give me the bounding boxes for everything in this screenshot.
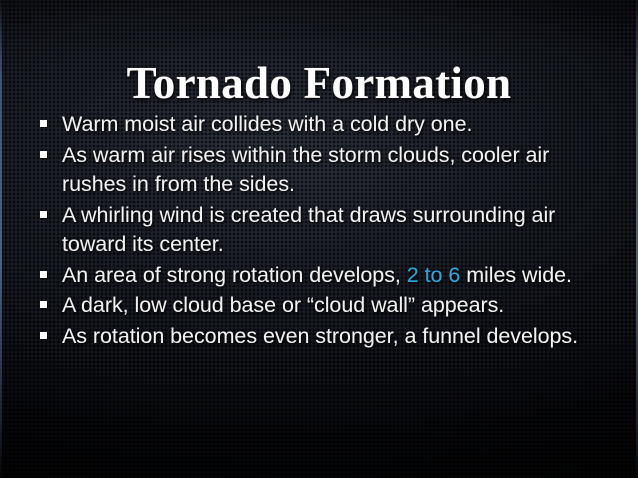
list-item-text: Warm moist air collides with a cold dry … xyxy=(62,112,472,136)
slide-content: Tornado Formation Warm moist air collide… xyxy=(0,0,638,478)
presentation-slide: Tornado Formation Warm moist air collide… xyxy=(0,0,638,478)
plain-text: An area of strong rotation develops, xyxy=(62,263,407,287)
square-bullet-icon xyxy=(40,151,47,158)
plain-text: A whirling wind is created that draws su… xyxy=(62,203,555,257)
square-bullet-icon xyxy=(40,332,47,339)
list-item: An area of strong rotation develops, 2 t… xyxy=(36,261,614,291)
bullet-list: Warm moist air collides with a cold dry … xyxy=(36,110,614,352)
list-item: As rotation becomes even stronger, a fun… xyxy=(36,322,614,352)
list-item: A whirling wind is created that draws su… xyxy=(36,201,614,260)
list-item-text: A whirling wind is created that draws su… xyxy=(62,203,555,257)
list-item-text: As warm air rises within the storm cloud… xyxy=(62,143,549,197)
plain-text: As rotation becomes even stronger, a fun… xyxy=(62,324,578,348)
square-bullet-icon xyxy=(40,120,47,127)
list-item: Warm moist air collides with a cold dry … xyxy=(36,110,614,140)
square-bullet-icon xyxy=(40,211,47,218)
slide-title: Tornado Formation xyxy=(0,58,638,108)
plain-text: A dark, low cloud base or “cloud wall” a… xyxy=(62,293,504,317)
highlighted-text: 2 to 6 xyxy=(407,263,461,287)
square-bullet-icon xyxy=(40,271,47,278)
list-item: As warm air rises within the storm cloud… xyxy=(36,141,614,200)
plain-text: miles wide. xyxy=(460,263,572,287)
square-bullet-icon xyxy=(40,301,47,308)
list-item-text: An area of strong rotation develops, 2 t… xyxy=(62,263,572,287)
list-item-text: A dark, low cloud base or “cloud wall” a… xyxy=(62,293,504,317)
list-item: A dark, low cloud base or “cloud wall” a… xyxy=(36,291,614,321)
plain-text: As warm air rises within the storm cloud… xyxy=(62,143,549,197)
plain-text: Warm moist air collides with a cold dry … xyxy=(62,112,472,136)
list-item-text: As rotation becomes even stronger, a fun… xyxy=(62,324,578,348)
